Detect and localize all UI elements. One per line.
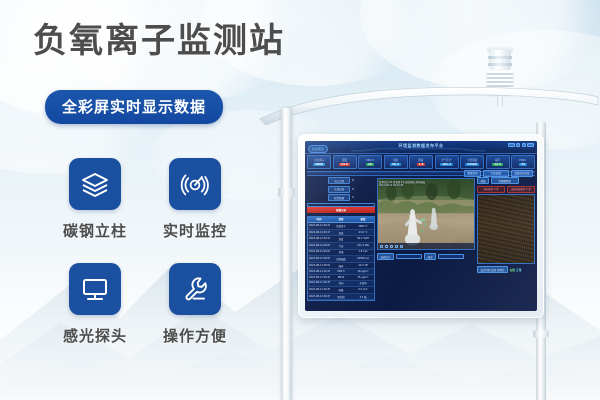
sensor-band bbox=[488, 56, 512, 59]
table-row[interactable]: 2023-08-11 08:25 紫外线 3.2 级 bbox=[308, 294, 374, 301]
steel-mast bbox=[281, 108, 292, 400]
feature-grid: 碳钢立柱 实时监控 bbox=[45, 158, 245, 368]
metric-card[interactable]: 风速 1.8 bbox=[409, 155, 433, 169]
table-cell-value: 23.6 ℃ bbox=[352, 230, 374, 236]
right-panel-tab[interactable]: 视频 bbox=[477, 177, 489, 184]
feature-label: 碳钢立柱 bbox=[45, 220, 145, 241]
camera-noise bbox=[478, 195, 534, 263]
feature-item-easy-operation[interactable]: 操作方便 bbox=[145, 263, 245, 368]
metric-value: 23.6 bbox=[339, 163, 350, 167]
metric-value: 56.2 bbox=[390, 163, 401, 167]
metric-name: 温度 bbox=[342, 158, 347, 162]
stat-key: 报警数量 bbox=[328, 194, 350, 201]
table-cell-value: 56.2 %RH bbox=[352, 236, 374, 242]
table-cell-type: 光照强度 bbox=[330, 256, 352, 262]
metric-value: 18 bbox=[366, 163, 374, 167]
right-panel: 视频 切换摄像机 超标报警 0 条 设备离线报警 0 条 云台控制 变焦 预置位 bbox=[477, 177, 535, 309]
sensor-band bbox=[488, 63, 512, 66]
table-cell-value: 24500 lux bbox=[352, 256, 374, 262]
table-cell-type: 湿度 bbox=[330, 236, 352, 242]
wrench-icon bbox=[169, 263, 221, 315]
table-row[interactable]: 2023-08-11 08:55 光照强度 24500 lux bbox=[308, 256, 374, 263]
table-cell-value: 18 μg/m³ bbox=[352, 269, 374, 274]
header-wave-decoration bbox=[351, 146, 486, 153]
header-tool-chip[interactable] bbox=[522, 143, 526, 147]
table-cell-time: 2023-08-11 08:25 bbox=[308, 294, 330, 300]
radar-monitor-icon bbox=[169, 158, 221, 210]
table-cell-type: 风速 bbox=[330, 250, 352, 256]
table-cell-time: 2023-08-11 09:20 bbox=[308, 223, 330, 229]
metric-card[interactable]: 湿度 56.2 bbox=[384, 155, 408, 169]
stat-key: 在线设备 bbox=[328, 186, 350, 193]
table-cell-type: 雨量 bbox=[330, 287, 352, 293]
table-cell-value: 35 μg/m³ bbox=[352, 275, 374, 280]
table-row[interactable]: 2023-08-11 08:30 雨量 0.0 mm bbox=[308, 287, 374, 294]
stat-row: 站点总数 8 bbox=[307, 177, 375, 184]
table-cell-type: 噪声 bbox=[330, 263, 352, 269]
stat-row: 报警数量 0 bbox=[307, 194, 375, 201]
table-row[interactable]: 2023-08-11 09:10 湿度 56.2 %RH bbox=[308, 236, 374, 243]
site-search-row[interactable] bbox=[307, 203, 375, 207]
dashboard-subbar: 数据查询 历史曲线 设备状态在线 bbox=[307, 171, 535, 176]
stat-value: 8 bbox=[352, 188, 354, 191]
table-cell-time: 2023-08-11 08:30 bbox=[308, 287, 330, 293]
channel-dropdown[interactable] bbox=[438, 254, 464, 259]
channel-label: 通道 bbox=[424, 253, 436, 260]
metric-value: 35 bbox=[519, 163, 527, 167]
table-row[interactable]: 2023-08-11 09:20 负氧离子 2860 个 bbox=[308, 223, 374, 230]
metric-value: 42.5 bbox=[492, 163, 503, 167]
metric-name: 大气压力 bbox=[441, 158, 451, 162]
table-cell-type: 气压 bbox=[330, 243, 352, 249]
metric-card[interactable]: 光照强度 24500 bbox=[460, 155, 484, 169]
subbar-button-query[interactable]: 数据查询 bbox=[464, 170, 481, 177]
table-row[interactable]: 2023-08-11 09:05 气压 101.3 kPa bbox=[308, 243, 374, 250]
feature-item-carbon-steel-column[interactable]: 碳钢立柱 bbox=[45, 158, 145, 263]
center-panel: 监测点位 01 负氧离子生态监测站 实时画面 2023-08-11 09:20:… bbox=[377, 177, 475, 309]
table-cell-time: 2023-08-11 09:00 bbox=[308, 250, 330, 256]
metric-card[interactable]: 负氧离子 2860 bbox=[307, 155, 331, 169]
site-selector-label: 选择站点 bbox=[377, 253, 394, 260]
ptz-label[interactable]: 云台控制 变焦 预置位 bbox=[477, 266, 508, 273]
layers-icon bbox=[69, 158, 121, 210]
video-controls[interactable] bbox=[378, 243, 474, 249]
table-cell-time: 2023-08-11 08:55 bbox=[308, 256, 330, 262]
feature-label: 感光探头 bbox=[45, 325, 145, 346]
metric-card[interactable]: 噪声 42.5 bbox=[486, 155, 510, 169]
left-panel: 站点总数 8 在线设备 8 报警数量 0 bbox=[307, 177, 375, 309]
alert-badge: 设备离线报警 0 条 bbox=[507, 186, 535, 193]
metric-value: 101.3 bbox=[440, 163, 453, 167]
site-selector-dropdown[interactable] bbox=[396, 254, 422, 259]
fullscreen-icon[interactable] bbox=[400, 245, 403, 248]
metric-name: 风速 bbox=[418, 158, 423, 162]
stat-key: 站点总数 bbox=[328, 177, 350, 184]
table-cell-type: PM10 bbox=[330, 275, 352, 280]
header-tool-chip[interactable] bbox=[516, 143, 520, 147]
post-bracket bbox=[533, 330, 549, 338]
table-header-cell: 时间 bbox=[308, 217, 330, 223]
table-cell-time: 2023-08-11 08:35 bbox=[308, 281, 330, 287]
table-cell-value: 2860 个 bbox=[352, 223, 374, 229]
dashboard-logo: 负氧离子 bbox=[308, 145, 328, 153]
metric-name: 光照强度 bbox=[467, 158, 477, 162]
table-row[interactable]: 2023-08-11 09:00 风速 1.8 m/s bbox=[308, 250, 374, 257]
dashboard: 负氧离子 环境监测数据发布平台 bbox=[305, 141, 537, 311]
stat-value: 0 bbox=[352, 196, 354, 199]
table-cell-time: 2023-08-11 08:40 bbox=[308, 275, 330, 280]
subbar-button-history[interactable]: 历史曲线 bbox=[483, 170, 509, 177]
right-panel-footer: 云台控制 变焦 预置位 在线 正常 bbox=[477, 266, 535, 273]
table-cell-value: 0.0 mm bbox=[352, 287, 374, 293]
secondary-camera-feed[interactable] bbox=[477, 194, 535, 264]
table-cell-time: 2023-08-11 09:05 bbox=[308, 243, 330, 249]
table-cell-value: 东南风 bbox=[352, 281, 374, 287]
metric-card[interactable]: 大气压力 101.3 bbox=[435, 155, 459, 169]
status-online: 在线 bbox=[510, 268, 515, 272]
table-cell-time: 2023-08-11 09:15 bbox=[308, 230, 330, 236]
metric-card[interactable]: 温度 23.6 bbox=[333, 155, 357, 169]
alert-row: 超标报警 0 条 设备离线报警 0 条 bbox=[477, 186, 535, 193]
metric-card[interactable]: PM2.5 18 bbox=[358, 155, 382, 169]
header-tool-chip[interactable] bbox=[508, 143, 515, 147]
metric-value: 24500 bbox=[465, 163, 479, 167]
alert-record-button[interactable]: 报警记录 bbox=[307, 207, 375, 213]
video-scene bbox=[378, 179, 474, 249]
subbar-status: 设备状态在线 bbox=[511, 170, 533, 177]
video-osd-timestamp: 2023-08-11 09:20:36 bbox=[379, 184, 403, 187]
metric-name: 负氧离子 bbox=[314, 158, 324, 162]
feature-item-photosensor-probe[interactable]: 感光探头 bbox=[45, 263, 145, 368]
metric-value: 1.8 bbox=[417, 163, 426, 167]
subtitle-badge: 全彩屏实时显示数据 bbox=[45, 90, 223, 124]
right-panel-header: 视频 切换摄像机 bbox=[477, 177, 535, 184]
monitor-screen-icon bbox=[69, 263, 121, 315]
stat-row: 在线设备 8 bbox=[307, 186, 375, 193]
snapshot-icon[interactable] bbox=[390, 245, 393, 248]
metric-name: PM10 bbox=[519, 158, 526, 162]
metric-card-row: 负氧离子 2860 温度 23.6 PM2.5 18 湿度 bbox=[307, 155, 535, 169]
metric-name: 噪声 bbox=[495, 158, 500, 162]
table-row[interactable]: 2023-08-11 08:35 风向 东南风 bbox=[308, 281, 374, 288]
site-search-input[interactable] bbox=[307, 203, 375, 207]
sensor-body bbox=[489, 50, 511, 70]
page-title: 负氧离子监测站 bbox=[33, 24, 285, 58]
table-cell-time: 2023-08-11 09:10 bbox=[308, 236, 330, 242]
switch-camera-button[interactable]: 切换摄像机 bbox=[491, 177, 520, 184]
play-icon[interactable] bbox=[380, 245, 383, 248]
table-row[interactable]: 2023-08-11 08:50 噪声 42.5 dB bbox=[308, 263, 374, 270]
mast-collar bbox=[278, 188, 295, 197]
table-header-cell: 数值 bbox=[352, 217, 374, 223]
table-header-row: 时间 类型 数值 bbox=[308, 217, 374, 224]
feature-label: 实时监控 bbox=[145, 220, 245, 241]
feature-label: 操作方便 bbox=[145, 325, 245, 346]
display-screen-frame: 负氧离子 环境监测数据发布平台 bbox=[298, 134, 544, 318]
records-table: 时间 类型 数值 2023-08-11 09:20 负氧离子 2860 个 20… bbox=[307, 216, 375, 302]
table-cell-type: 温度 bbox=[330, 230, 352, 236]
video-selector-row: 选择站点 通道 bbox=[377, 253, 475, 260]
metric-name: 湿度 bbox=[393, 158, 398, 162]
header-tools[interactable] bbox=[508, 143, 535, 147]
table-cell-value: 3.2 级 bbox=[352, 294, 374, 300]
table-cell-type: 紫外线 bbox=[330, 294, 352, 300]
table-cell-value: 42.5 dB bbox=[352, 263, 374, 269]
feature-item-realtime-monitoring[interactable]: 实时监控 bbox=[145, 158, 245, 263]
table-cell-type: PM2.5 bbox=[330, 269, 352, 274]
metric-card[interactable]: PM10 35 bbox=[511, 155, 535, 169]
metric-value: 2860 bbox=[313, 163, 325, 167]
table-cell-value: 101.3 kPa bbox=[352, 243, 374, 249]
table-header-cell: 类型 bbox=[330, 217, 352, 223]
table-cell-type: 负氧离子 bbox=[330, 223, 352, 229]
metric-name: PM2.5 bbox=[366, 158, 374, 162]
stat-value: 8 bbox=[352, 179, 354, 182]
live-video-feed[interactable]: 监测点位 01 负氧离子生态监测站 实时画面 2023-08-11 09:20:… bbox=[377, 178, 475, 250]
header-tool-chip[interactable] bbox=[527, 143, 534, 147]
pause-icon[interactable] bbox=[385, 245, 388, 248]
status-normal: 正常 bbox=[516, 268, 521, 272]
alert-badge: 超标报警 0 条 bbox=[477, 186, 505, 193]
table-row[interactable]: 2023-08-11 09:15 温度 23.6 ℃ bbox=[308, 230, 374, 237]
dashboard-header: 负氧离子 环境监测数据发布平台 bbox=[305, 141, 537, 154]
record-icon[interactable] bbox=[395, 245, 398, 248]
display-screen[interactable]: 负氧离子 环境监测数据发布平台 bbox=[305, 141, 537, 311]
table-cell-time: 2023-08-11 08:45 bbox=[308, 269, 330, 274]
monitoring-station: 负氧离子 环境监测数据发布平台 bbox=[250, 30, 600, 400]
table-cell-type: 风向 bbox=[330, 281, 352, 287]
table-cell-value: 1.8 m/s bbox=[352, 250, 374, 256]
curved-canopy bbox=[258, 85, 600, 127]
table-cell-time: 2023-08-11 08:50 bbox=[308, 263, 330, 269]
poster-canvas: 负氧离子监测站 全彩屏实时显示数据 碳钢立柱 bbox=[0, 0, 600, 400]
